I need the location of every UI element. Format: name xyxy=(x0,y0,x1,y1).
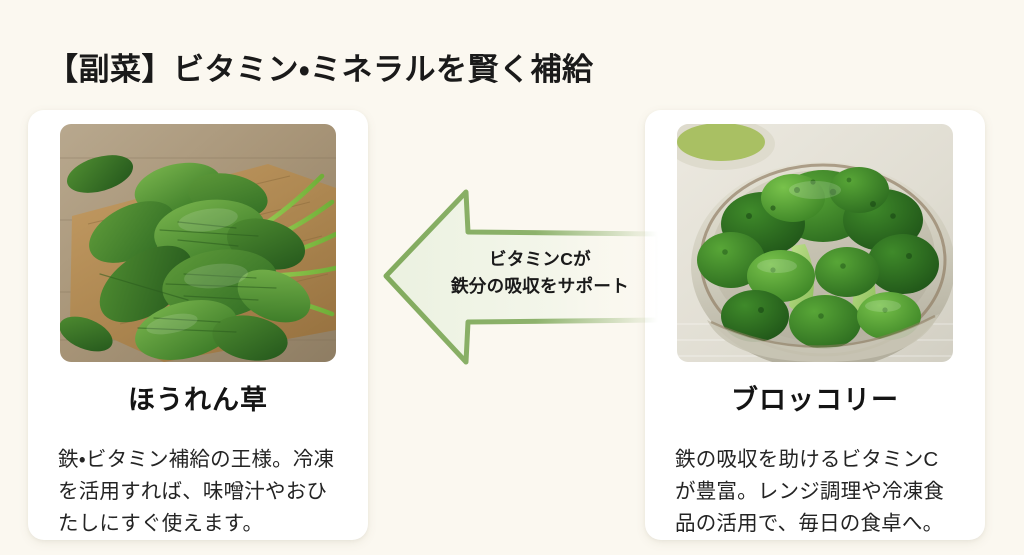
card-title-spinach: ほうれん草 xyxy=(28,378,368,417)
card-title-broccoli: ブロッコリー xyxy=(645,378,985,417)
arrow-caption-line-2: 鉄分の吸収をサポート xyxy=(430,273,650,300)
arrow-caption: ビタミンCが 鉄分の吸収をサポート xyxy=(430,246,650,300)
page-title: 【副菜】ビタミン・ミネラルを賢く補給 xyxy=(47,51,594,90)
card-description-broccoli: 鉄の吸収を助けるビタミンCが豊富。レンジ調理や冷凍食品の活用で、毎日の食卓へ。 xyxy=(675,444,959,541)
support-arrow-annotation: ビタミンCが 鉄分の吸収をサポート xyxy=(378,178,658,378)
spinach-photo xyxy=(60,124,336,362)
card-spinach: ほうれん草 鉄・ビタミン補給の王様。冷凍を活用すれば、味噌汁やおひたしにすぐ使え… xyxy=(28,110,368,540)
arrow-caption-line-1: ビタミンCが xyxy=(430,246,650,273)
card-description-spinach: 鉄・ビタミン補給の王様。冷凍を活用すれば、味噌汁やおひたしにすぐ使えます。 xyxy=(58,444,342,541)
broccoli-photo xyxy=(677,124,953,362)
card-broccoli: ブロッコリー 鉄の吸収を助けるビタミンCが豊富。レンジ調理や冷凍食品の活用で、毎… xyxy=(645,110,985,540)
